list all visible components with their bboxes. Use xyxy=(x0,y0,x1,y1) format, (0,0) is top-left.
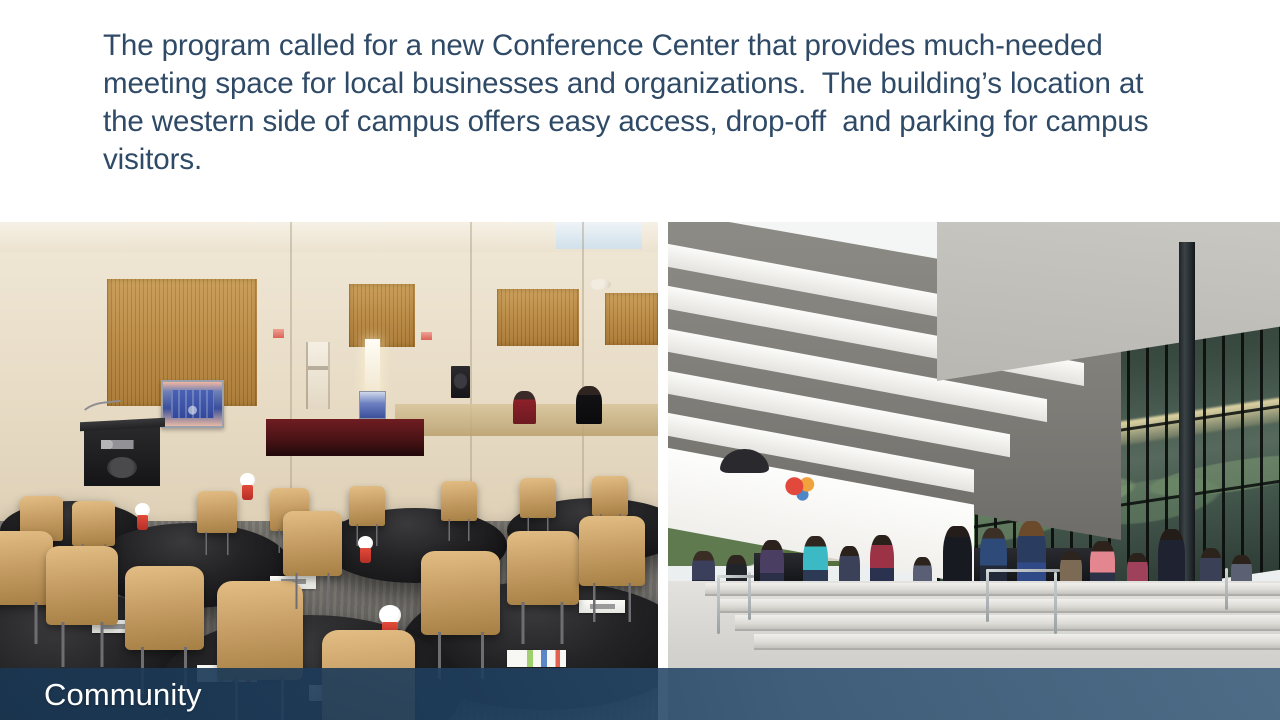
entry-step xyxy=(735,615,1280,630)
image-conference-hall-interior xyxy=(0,222,658,720)
chair xyxy=(125,566,204,651)
secondary-monitor xyxy=(359,391,387,419)
person-figure xyxy=(513,391,535,424)
hall-scene xyxy=(0,222,658,720)
photo-band xyxy=(0,222,1280,720)
image-conference-center-exterior xyxy=(668,222,1280,720)
umbrella xyxy=(720,449,769,474)
wood-acoustic-panel xyxy=(605,293,658,345)
chair xyxy=(592,476,628,516)
handrail xyxy=(1054,572,1057,633)
section-title-label: Community xyxy=(44,679,202,710)
entry-step xyxy=(754,634,1280,651)
table-centerpiece xyxy=(355,536,376,563)
chair xyxy=(507,531,579,606)
handrail xyxy=(717,575,720,634)
table-centerpiece xyxy=(237,473,258,500)
centerpiece-vase xyxy=(137,515,148,530)
entry-step xyxy=(705,583,1280,596)
wall-light xyxy=(365,339,379,399)
entry-step xyxy=(717,599,1280,613)
chair xyxy=(197,491,236,533)
balloons xyxy=(784,476,821,506)
chair xyxy=(520,478,556,518)
chair xyxy=(46,546,118,626)
handrail xyxy=(1225,568,1228,610)
person-figure xyxy=(576,386,602,423)
handrail-top xyxy=(986,569,1059,572)
placemat xyxy=(507,650,566,667)
chair xyxy=(349,486,385,526)
chair xyxy=(0,531,53,606)
wood-acoustic-panel xyxy=(349,284,415,346)
projection-screen xyxy=(161,380,224,427)
section-title-banner: Community xyxy=(0,668,1280,720)
chair xyxy=(283,511,342,576)
centerpiece-vase xyxy=(242,485,253,500)
exterior-scene xyxy=(668,222,1280,720)
chair xyxy=(441,481,477,521)
table-centerpiece xyxy=(132,503,153,530)
wall-seam xyxy=(290,222,292,531)
centerpiece-vase xyxy=(360,548,371,563)
head-table xyxy=(266,419,424,456)
chair xyxy=(72,501,115,546)
pa-speaker xyxy=(451,366,471,398)
wood-acoustic-panel xyxy=(497,289,579,346)
exit-sign xyxy=(273,329,284,337)
slide-canvas: The program called for a new Conference … xyxy=(0,0,1280,720)
doorway xyxy=(306,342,330,409)
body-text-block: The program called for a new Conference … xyxy=(103,27,1173,179)
lectern-podium xyxy=(84,424,160,486)
clerestory-window xyxy=(556,222,642,249)
exit-sign xyxy=(421,332,432,340)
body-paragraph: The program called for a new Conference … xyxy=(103,27,1173,179)
wall-seam xyxy=(582,222,584,531)
chair xyxy=(421,551,500,636)
handrail-top xyxy=(717,575,754,578)
podium-logo xyxy=(101,440,136,449)
handrail xyxy=(986,569,989,622)
handrail xyxy=(748,572,751,619)
chair xyxy=(579,516,645,586)
